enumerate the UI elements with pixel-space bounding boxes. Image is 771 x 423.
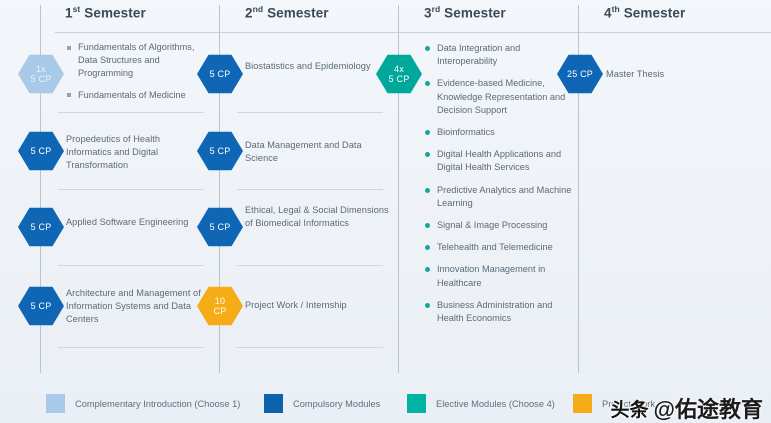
semester-suffix-2: nd <box>253 4 264 14</box>
legend-label-compulsory: Compulsory Modules <box>293 399 380 409</box>
watermark-logo: 头条 <box>611 395 649 422</box>
elective-title: Bioinformatics <box>437 127 495 137</box>
dot-bullet-icon <box>425 130 430 135</box>
semester-2-column: 5 CP Biostatistics and Epidemiology 5 CP… <box>179 32 389 348</box>
credit-badge-5cp: 5 CP <box>197 207 243 247</box>
list-item[interactable]: Telehealth and Telemedicine <box>424 241 576 254</box>
dot-bullet-icon <box>425 223 430 228</box>
badge-line-1: 5 CP <box>31 222 52 233</box>
module-title: Data Management and Data Science <box>245 139 390 165</box>
semester-title-4: 4th Semester <box>604 4 685 21</box>
legend-swatch-elective <box>407 394 426 413</box>
badge-line-1: 5 CP <box>210 146 231 157</box>
square-bullet-icon <box>67 46 71 50</box>
semester-title-3: 3rd Semester <box>424 4 506 21</box>
credit-badge-5cp: 5 CP <box>197 131 243 171</box>
elective-title: Predictive Analytics and Machine Learnin… <box>437 185 571 208</box>
legend-item-complementary[interactable]: Complementary Introduction (Choose 1) <box>46 394 240 413</box>
dot-bullet-icon <box>425 188 430 193</box>
legend-label-complementary: Complementary Introduction (Choose 1) <box>75 399 240 409</box>
list-item[interactable]: Business Administration and Health Econo… <box>424 299 576 325</box>
credit-badge-5cp: 5 CP <box>197 54 243 94</box>
module-title: Fundamentals of Medicine <box>78 90 186 100</box>
badge-line-1: 10 <box>215 296 225 306</box>
module-title: Project Work / Internship <box>245 299 390 312</box>
elective-title: Signal & Image Processing <box>437 220 547 230</box>
curriculum-diagram: 1st Semester 2nd Semester 3rd Semester 4… <box>0 0 771 423</box>
semester-ordinal-3: 3 <box>424 6 432 21</box>
legend-item-elective[interactable]: Elective Modules (Choose 4) <box>407 394 555 413</box>
list-item[interactable]: Predictive Analytics and Machine Learnin… <box>424 184 576 210</box>
module-biostatistics[interactable]: 5 CP Biostatistics and Epidemiology <box>179 32 389 113</box>
semester-suffix-3: rd <box>432 4 441 14</box>
dot-bullet-icon <box>425 245 430 250</box>
badge-line-2: 5 CP <box>31 74 52 84</box>
dot-bullet-icon <box>425 46 430 51</box>
module-title: Biostatistics and Epidemiology <box>245 60 390 73</box>
semester-title-2: 2nd Semester <box>245 4 329 21</box>
legend-swatch-project-work <box>573 394 592 413</box>
watermark: 头条 @佑途教育 <box>611 392 763 423</box>
module-ethical-legal-social[interactable]: 5 CP Ethical, Legal & Social Dimensions … <box>179 190 389 266</box>
semester-suffix-4: th <box>612 4 620 14</box>
list-item[interactable]: Innovation Management in Healthcare <box>424 263 576 289</box>
legend-swatch-complementary <box>46 394 65 413</box>
legend-swatch-compulsory <box>264 394 283 413</box>
semester-ordinal-1: 1 <box>65 6 73 21</box>
module-title: Fundamentals of Algorithms, Data Structu… <box>78 42 194 78</box>
semester-label-1: Semester <box>84 6 146 21</box>
badge-line-1: 5 CP <box>210 69 231 80</box>
badge-line-2: 5 CP <box>389 74 410 84</box>
elective-title: Telehealth and Telemedicine <box>437 242 553 252</box>
credit-badge-25cp: 25 CP <box>557 54 603 94</box>
semester-ordinal-2: 2 <box>245 6 253 21</box>
badge-line-1: 5 CP <box>31 301 52 312</box>
semester-4-column: 25 CP Master Thesis <box>538 32 771 113</box>
dot-bullet-icon <box>425 81 430 86</box>
elective-title: Data Integration and Interoperability <box>437 43 520 66</box>
square-bullet-icon <box>67 93 71 97</box>
badge-line-1: 5 CP <box>31 146 52 157</box>
dot-bullet-icon <box>425 303 430 308</box>
module-title: Master Thesis <box>606 68 756 81</box>
module-project-work[interactable]: 10 CP Project Work / Internship <box>179 266 389 348</box>
badge-line-1: 5 CP <box>210 222 231 233</box>
semester-label-2: Semester <box>267 6 329 21</box>
badge-line-1: 1x <box>36 64 46 74</box>
list-item[interactable]: Bioinformatics <box>424 126 576 139</box>
credit-badge-5cp: 5 CP <box>18 207 64 247</box>
badge-line-2: CP <box>214 306 227 316</box>
credit-badge-complementary: 1x 5 CP <box>18 54 64 94</box>
semester-header-row: 1st Semester 2nd Semester 3rd Semester 4… <box>0 0 771 32</box>
legend-label-elective: Elective Modules (Choose 4) <box>436 399 555 409</box>
list-item[interactable]: Digital Health Applications and Digital … <box>424 148 576 174</box>
elective-title: Business Administration and Health Econo… <box>437 300 552 323</box>
semester-suffix-1: st <box>73 4 81 14</box>
module-title: Ethical, Legal & Social Dimensions of Bi… <box>245 204 390 230</box>
legend-item-compulsory[interactable]: Compulsory Modules <box>264 394 380 413</box>
credit-badge-project: 10 CP <box>197 286 243 326</box>
credit-badge-5cp: 5 CP <box>18 131 64 171</box>
dot-bullet-icon <box>425 267 430 272</box>
watermark-handle: @佑途教育 <box>654 392 763 423</box>
badge-line-1: 25 CP <box>567 69 593 80</box>
module-data-management[interactable]: 5 CP Data Management and Data Science <box>179 113 389 190</box>
semester-label-3: Semester <box>444 6 506 21</box>
semester-label-4: Semester <box>624 6 686 21</box>
dot-bullet-icon <box>425 152 430 157</box>
semester-ordinal-4: 4 <box>604 6 612 21</box>
list-item[interactable]: Signal & Image Processing <box>424 219 576 232</box>
module-divider <box>237 347 383 348</box>
elective-title: Digital Health Applications and Digital … <box>437 149 561 172</box>
badge-line-1: 4x <box>394 64 404 74</box>
semester-title-1: 1st Semester <box>65 4 146 21</box>
elective-title: Innovation Management in Healthcare <box>437 264 545 287</box>
module-master-thesis[interactable]: 25 CP Master Thesis <box>538 32 771 113</box>
credit-badge-5cp: 5 CP <box>18 286 64 326</box>
